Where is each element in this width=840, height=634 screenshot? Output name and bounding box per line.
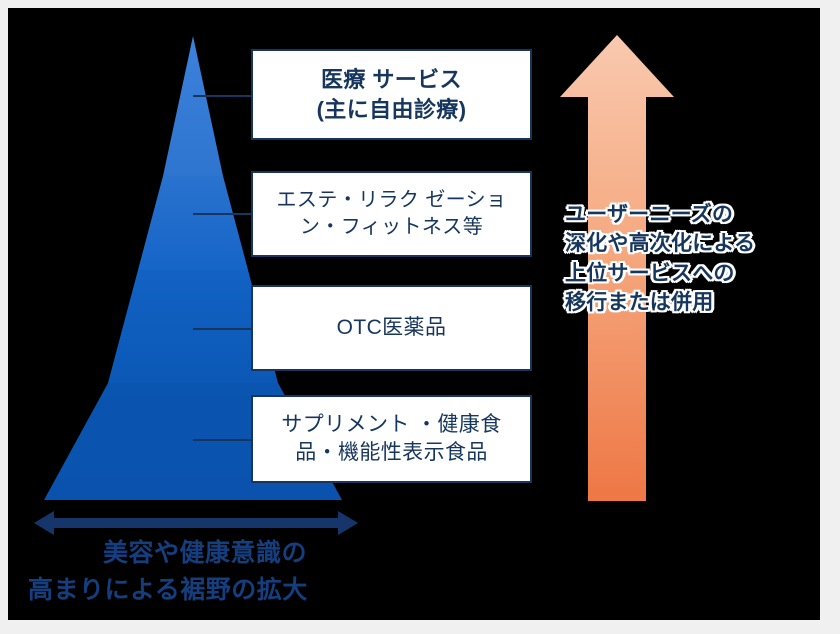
tier-label-box-otc: OTC医薬品 (251, 285, 532, 371)
tier-label-text-supplement: サプリメント ・健康食 品・機能性表示食品 (273, 411, 509, 467)
tier-label-box-esthetic: エステ・リラク ゼーショ ン・フィットネス等 (251, 171, 532, 257)
bottom-caption-line-1: 美容や健康意識の (26, 535, 376, 572)
tier-label-box-supplement: サプリメント ・健康食 品・機能性表示食品 (251, 395, 532, 483)
market-breadth-arrow-icon (34, 510, 358, 536)
upgrade-arrow-caption: ユーザーニーズの 深化や高次化による 上位サービスへの 移行または併用 (565, 200, 795, 318)
tier-label-text-otc: OTC医薬品 (329, 314, 455, 342)
bottom-caption-line-2: 高まりによる裾野の拡大 (26, 572, 376, 609)
tier-label-text-esthetic: エステ・リラク ゼーショ ン・フィットネス等 (269, 187, 515, 241)
arrow-caption-line-3: 上位サービスへの (565, 259, 795, 288)
arrow-caption-line-1: ユーザーニーズの (565, 200, 795, 229)
arrow-caption-line-4: 移行または併用 (565, 288, 795, 317)
pyramid-tier-esthetic (138, 176, 248, 270)
tier-label-text-medical: 医療 サービス (主に自由診療) (309, 65, 475, 124)
bottom-caption: 美容や健康意識の 高まりによる裾野の拡大 (26, 535, 376, 608)
diagram-canvas: 医療 サービス (主に自由診療) エステ・リラク ゼーショ ン・フィットネス等 … (8, 8, 820, 620)
arrow-caption-line-2: 深化や高次化による (565, 229, 795, 258)
tier-label-box-medical: 医療 サービス (主に自由診療) (251, 49, 532, 140)
pyramid-tier-medical (163, 36, 223, 176)
leader-line-supplement (193, 439, 251, 441)
leader-line-medical (193, 95, 251, 97)
leader-line-esthetic (193, 213, 251, 215)
leader-line-otc (193, 328, 251, 330)
